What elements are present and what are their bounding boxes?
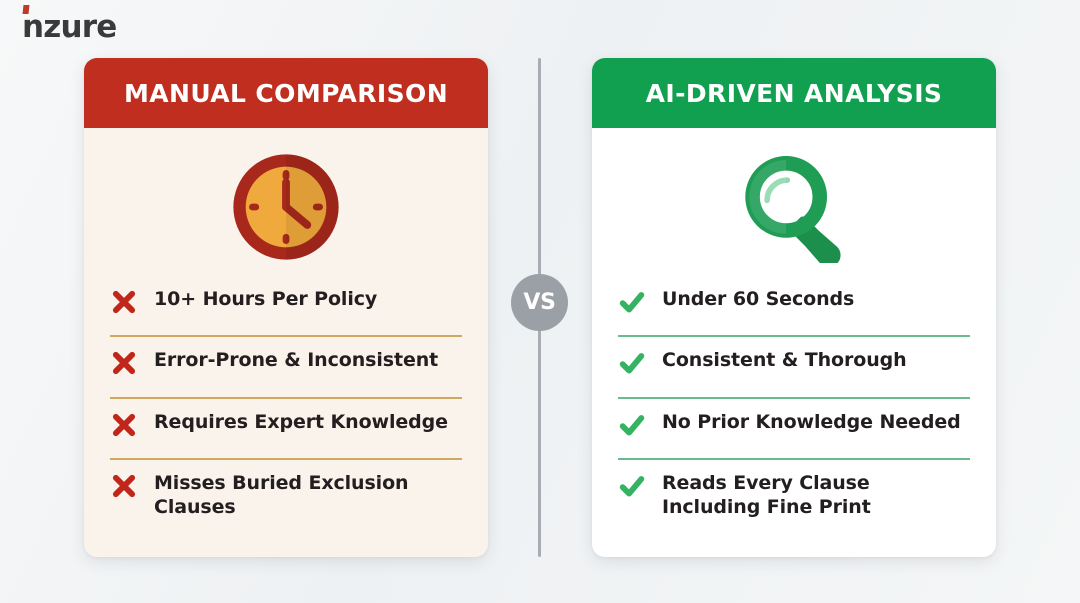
list-item: Error-Prone & Inconsistent [110,335,462,396]
list-item: Misses Buried Exclusion Clauses [110,458,462,539]
cross-icon [110,349,138,377]
list-item: 10+ Hours Per Policy [110,276,462,335]
list-item-label: 10+ Hours Per Policy [154,287,377,311]
check-icon [618,411,646,439]
list-item-label: No Prior Knowledge Needed [662,410,961,434]
list-item-label: Requires Expert Knowledge [154,410,448,434]
list-item-label: Under 60 Seconds [662,287,854,311]
panel-title-manual: MANUAL COMPARISON [124,79,448,108]
panel-body-ai: Under 60 Seconds Consistent & Thorough N… [592,128,996,557]
brand-name: nzure [22,12,117,43]
check-icon [618,288,646,316]
panel-title-ai: AI-DRIVEN ANALYSIS [646,79,943,108]
vs-badge: VS [511,274,568,331]
comparison-board: nzure MANUAL COMPARISON [0,0,1080,603]
feature-list-manual: 10+ Hours Per Policy Error-Prone & Incon… [110,270,462,539]
magnifier-icon [738,151,850,263]
feature-list-ai: Under 60 Seconds Consistent & Thorough N… [618,270,970,539]
list-item: Consistent & Thorough [618,335,970,396]
list-item: Reads Every Clause Including Fine Print [618,458,970,539]
panel-manual-comparison: MANUAL COMPARISON [84,58,488,557]
cross-icon [110,472,138,500]
panel-ai-driven-analysis: AI-DRIVEN ANALYSIS Under 60 Seconds [592,58,996,557]
panel-header-ai: AI-DRIVEN ANALYSIS [592,58,996,128]
panel-body-manual: 10+ Hours Per Policy Error-Prone & Incon… [84,128,488,557]
check-icon [618,349,646,377]
check-icon [618,472,646,500]
list-item: Requires Expert Knowledge [110,397,462,458]
list-item: No Prior Knowledge Needed [618,397,970,458]
panel-header-manual: MANUAL COMPARISON [84,58,488,128]
clock-icon-wrap [110,144,462,270]
brand-accent-icon [23,5,30,14]
vs-badge-label: VS [523,290,555,315]
list-item-label: Consistent & Thorough [662,348,907,372]
list-item-label: Misses Buried Exclusion Clauses [154,471,462,520]
cross-icon [110,411,138,439]
list-item-label: Error-Prone & Inconsistent [154,348,438,372]
brand-logo: nzure [22,12,117,43]
list-item-label: Reads Every Clause Including Fine Print [662,471,970,520]
list-item: Under 60 Seconds [618,276,970,335]
magnifier-icon-wrap [618,144,970,270]
cross-icon [110,288,138,316]
clock-icon [230,151,342,263]
